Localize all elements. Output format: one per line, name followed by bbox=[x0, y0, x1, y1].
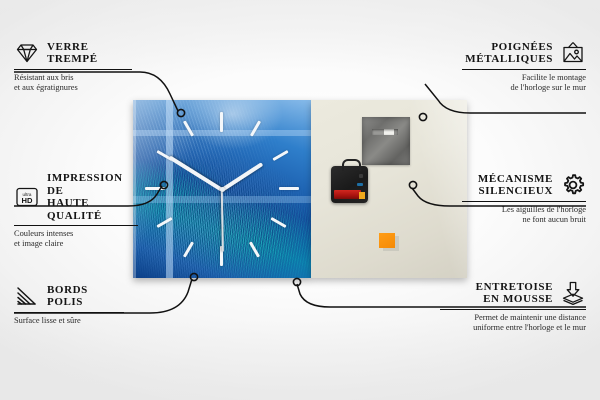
callout-subtitle-line2: de l'horloge sur le mur bbox=[462, 83, 586, 93]
callout-header: VERRE TREMPÉ bbox=[14, 40, 132, 66]
callout-title-line2: POLIS bbox=[47, 296, 88, 309]
callout-subtitle-line2: uniforme entre l'horloge et le mur bbox=[440, 323, 586, 333]
connector-dot bbox=[293, 278, 300, 285]
svg-text:HD: HD bbox=[22, 196, 33, 205]
callout-subtitle-line1: Facilite le montage bbox=[462, 73, 586, 83]
callout-header: BORDS POLIS bbox=[14, 283, 124, 309]
callout-header: ultra HD IMPRESSION DE HAUTE QUALITÉ bbox=[14, 172, 138, 222]
callout-title-line1: ENTRETOISE bbox=[476, 281, 553, 294]
callout-subtitle-line2: ne font aucun bruit bbox=[462, 215, 586, 225]
gear-icon bbox=[560, 172, 586, 198]
callout-rule bbox=[14, 312, 124, 313]
clock-tick bbox=[279, 187, 299, 190]
clock-front-panel bbox=[133, 100, 311, 278]
callout-title-line1: BORDS bbox=[47, 284, 88, 297]
infographic-canvas: VERRE TREMPÉ Résistant aux bris et aux é… bbox=[0, 0, 600, 400]
diamond-icon bbox=[14, 40, 40, 66]
hanging-frame-icon bbox=[560, 40, 586, 66]
callout-impression-haute-qualite: ultra HD IMPRESSION DE HAUTE QUALITÉ Cou… bbox=[14, 172, 138, 250]
callout-mecanisme-silencieux: MÉCANISME SILENCIEUX Les aiguilles de l'… bbox=[462, 172, 586, 226]
clock-center-cap bbox=[220, 187, 225, 192]
callout-rule bbox=[14, 69, 132, 70]
callout-header: MÉCANISME SILENCIEUX bbox=[462, 172, 586, 198]
callout-subtitle-line2: et image claire bbox=[14, 239, 138, 249]
product-image bbox=[133, 100, 467, 278]
ultra-hd-icon: ultra HD bbox=[14, 184, 40, 210]
callout-title-line2: HAUTE QUALITÉ bbox=[47, 197, 138, 222]
callout-verre-trempe: VERRE TREMPÉ Résistant aux bris et aux é… bbox=[14, 40, 132, 94]
callout-entretoise-en-mousse: ENTRETOISE EN MOUSSE Permet de maintenir… bbox=[440, 280, 586, 334]
callout-rule bbox=[14, 225, 138, 226]
callout-title-line1: POIGNÉES bbox=[465, 41, 553, 54]
clock-tick bbox=[220, 112, 223, 132]
callout-subtitle-line1: Couleurs intenses bbox=[14, 229, 138, 239]
callout-title-line1: IMPRESSION DE bbox=[47, 172, 138, 197]
callout-rule bbox=[462, 69, 586, 70]
callout-title-line2: MÉTALLIQUES bbox=[465, 53, 553, 66]
callout-title-line1: VERRE bbox=[47, 41, 98, 54]
callout-title-line2: SILENCIEUX bbox=[478, 185, 553, 198]
back-panel-gloss bbox=[311, 100, 467, 278]
callout-poignees-metalliques: POIGNÉES MÉTALLIQUES Facilite le montage… bbox=[462, 40, 586, 94]
callout-title-line1: MÉCANISME bbox=[478, 173, 553, 186]
callout-title-line2: TREMPÉ bbox=[47, 53, 98, 66]
callout-bords-polis: BORDS POLIS Surface lisse et sûre bbox=[14, 283, 124, 326]
callout-header: POIGNÉES MÉTALLIQUES bbox=[462, 40, 586, 66]
polished-edge-icon bbox=[14, 283, 40, 309]
clock-tick bbox=[145, 187, 165, 190]
callout-subtitle-line1: Permet de maintenir une distance bbox=[440, 313, 586, 323]
callout-subtitle-line1: Résistant aux bris bbox=[14, 73, 132, 83]
callout-subtitle-line1: Les aiguilles de l'horloge bbox=[462, 205, 586, 215]
clock-back-panel bbox=[311, 100, 467, 278]
foam-spacer-icon bbox=[560, 280, 586, 306]
callout-header: ENTRETOISE EN MOUSSE bbox=[440, 280, 586, 306]
callout-subtitle-line2: et aux égratignures bbox=[14, 83, 132, 93]
callout-rule bbox=[440, 309, 586, 310]
callout-title-line2: EN MOUSSE bbox=[476, 293, 553, 306]
callout-subtitle-line1: Surface lisse et sûre bbox=[14, 316, 124, 326]
callout-rule bbox=[462, 201, 586, 202]
